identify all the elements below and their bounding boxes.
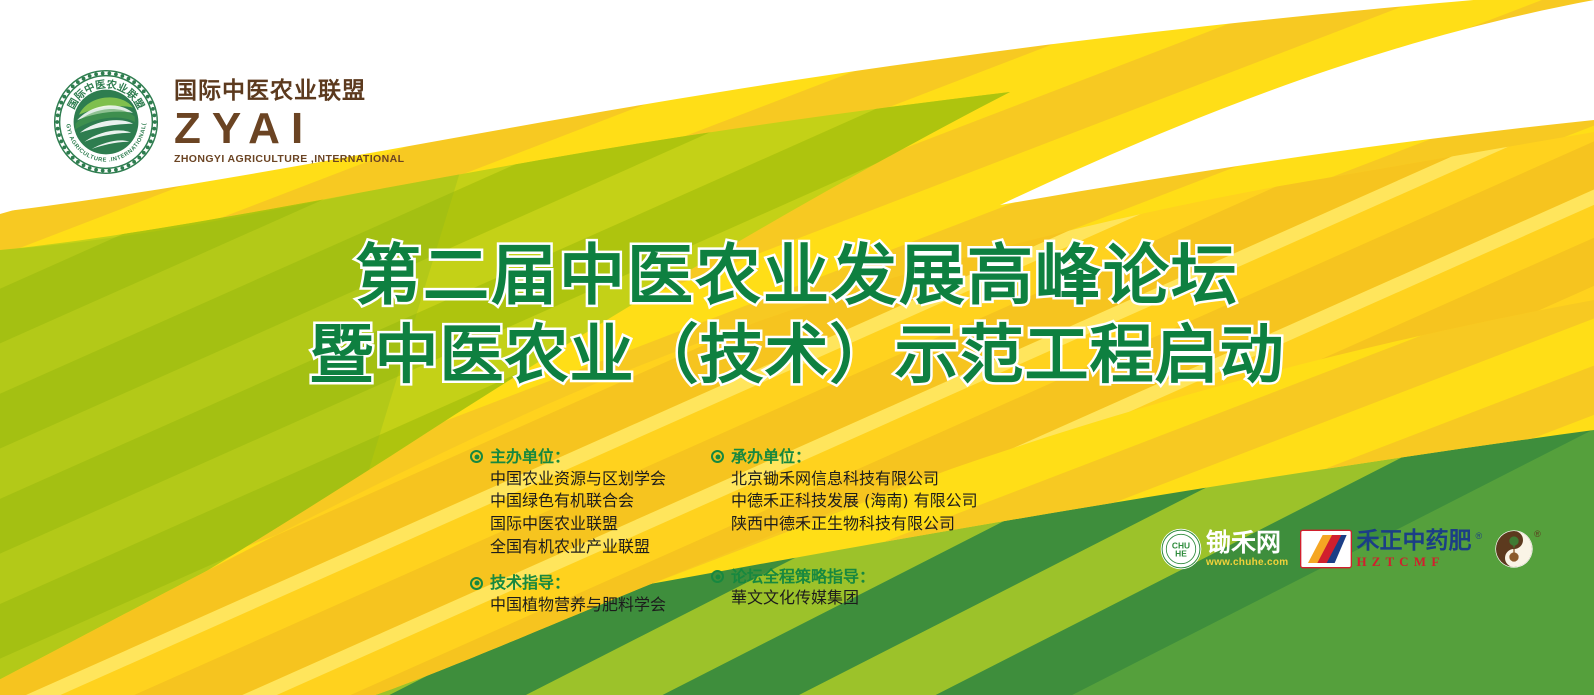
- credit-item: 華文文化传媒集团: [731, 587, 978, 610]
- zyai-circular-seal-icon: 国际中医农业联盟 ZHONGYI AGRICULTURE .INTERNATIO…: [52, 68, 160, 176]
- credit-items: 北京锄禾网信息科技有限公司 中德禾正科技发展 (海南) 有限公司 陕西中德禾正生…: [731, 468, 978, 536]
- credit-item: 中德禾正科技发展 (海南) 有限公司: [731, 490, 978, 513]
- credit-items: 華文文化传媒集团: [731, 587, 978, 610]
- sponsor-name-en: H Z T C M F: [1356, 555, 1471, 568]
- credit-item: 国际中医农业联盟: [490, 513, 666, 536]
- logo-name-en: ZHONGYI AGRICULTURE ,INTERNATIONAL: [174, 154, 404, 165]
- ring-bullet-icon: [470, 577, 483, 590]
- credit-item: 全国有机农业产业联盟: [490, 536, 666, 559]
- sponsor-hztcmf[interactable]: 禾正中药肥 H Z T C M F ®: [1300, 529, 1482, 569]
- credit-heading-label: 论坛全程策略指导：: [731, 566, 875, 588]
- credit-heading: 论坛全程策略指导：: [711, 566, 978, 588]
- sponsor-logo-row: CHU HE 锄禾网 www.chuhe.com 禾正中药肥 H Z T C M…: [1160, 528, 1541, 570]
- hzt-ribbon-mark-icon: [1300, 529, 1352, 569]
- svg-text:HE: HE: [1175, 549, 1187, 559]
- poster-canvas: 国际中医农业联盟 ZHONGYI AGRICULTURE .INTERNATIO…: [0, 0, 1594, 695]
- credits-column-right: 承办单位： 北京锄禾网信息科技有限公司 中德禾正科技发展 (海南) 有限公司 陕…: [711, 446, 978, 610]
- ring-bullet-icon: [711, 570, 724, 583]
- sponsor-yinyang-tree[interactable]: ®: [1494, 529, 1541, 569]
- credit-heading: 技术指导：: [470, 572, 666, 594]
- sponsor-name-cn: 锄禾网: [1206, 530, 1288, 555]
- ring-bullet-icon: [470, 450, 483, 463]
- credit-items: 中国植物营养与肥料学会: [490, 594, 666, 617]
- credit-heading: 主办单位：: [470, 446, 666, 468]
- credit-group: 承办单位： 北京锄禾网信息科技有限公司 中德禾正科技发展 (海南) 有限公司 陕…: [711, 446, 978, 536]
- credits-area: 主办单位： 中国农业资源与区划学会 中国绿色有机联合会 国际中医农业联盟 全国有…: [470, 446, 978, 617]
- credit-group: 技术指导： 中国植物营养与肥料学会: [470, 572, 666, 616]
- logo-wordmark: 国际中医农业联盟 ZYAI ZHONGYI AGRICULTURE ,INTER…: [174, 80, 404, 165]
- credit-item: 中国植物营养与肥料学会: [490, 594, 666, 617]
- registered-mark-icon: ®: [1534, 529, 1541, 539]
- sponsor-chuhe[interactable]: CHU HE 锄禾网 www.chuhe.com: [1160, 528, 1288, 570]
- credit-item: 中国绿色有机联合会: [490, 490, 666, 513]
- sponsor-url-text: www.chuhe.com: [1206, 558, 1288, 568]
- logo-name-cn: 国际中医农业联盟: [174, 80, 404, 103]
- credit-item: 北京锄禾网信息科技有限公司: [731, 468, 978, 491]
- chuhe-circular-logo-icon: CHU HE: [1160, 528, 1202, 570]
- ring-bullet-icon: [711, 450, 724, 463]
- credit-heading: 承办单位：: [711, 446, 978, 468]
- sponsor-name-cn: 禾正中药肥: [1356, 530, 1471, 553]
- credit-item: 中国农业资源与区划学会: [490, 468, 666, 491]
- credit-item: 陕西中德禾正生物科技有限公司: [731, 513, 978, 536]
- credits-column-left: 主办单位： 中国农业资源与区划学会 中国绿色有机联合会 国际中医农业联盟 全国有…: [470, 446, 666, 617]
- credit-heading-label: 技术指导：: [490, 572, 570, 594]
- credit-items: 中国农业资源与区划学会 中国绿色有机联合会 国际中医农业联盟 全国有机农业产业联…: [490, 468, 666, 559]
- credit-group: 论坛全程策略指导： 華文文化传媒集团: [711, 566, 978, 610]
- credit-group: 主办单位： 中国农业资源与区划学会 中国绿色有机联合会 国际中医农业联盟 全国有…: [470, 446, 666, 558]
- logo-acronym: ZYAI: [174, 106, 404, 152]
- credit-heading-label: 主办单位：: [490, 446, 570, 468]
- credit-heading-label: 承办单位：: [731, 446, 811, 468]
- yinyang-tree-root-logo-icon: [1494, 529, 1534, 569]
- zyai-logo-lockup: 国际中医农业联盟 ZHONGYI AGRICULTURE .INTERNATIO…: [52, 68, 404, 176]
- registered-mark-icon: ®: [1475, 531, 1482, 541]
